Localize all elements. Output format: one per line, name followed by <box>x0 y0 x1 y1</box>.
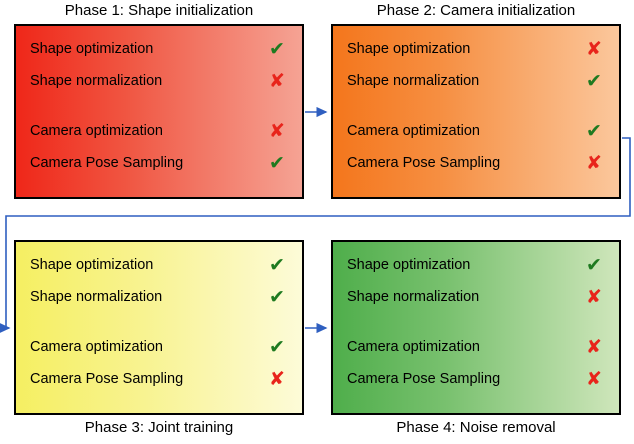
row-label: Camera optimization <box>30 120 163 142</box>
row-label: Shape normalization <box>30 286 162 308</box>
row-label: Shape optimization <box>30 254 153 276</box>
row-label: Shape optimization <box>347 254 470 276</box>
phase-panel-3: Shape optimization ✔ Shape normalization… <box>14 240 304 415</box>
check-icon: ✔ <box>579 254 609 276</box>
phase1-row-shape-normalization: Shape normalization ✘ <box>30 70 292 92</box>
check-icon: ✔ <box>262 336 292 358</box>
phase3-row-camera-optimization: Camera optimization ✔ <box>30 336 292 358</box>
phase-title-2: Phase 2: Camera initialization <box>331 2 621 19</box>
phase3-row-camera-pose-sampling: Camera Pose Sampling ✘ <box>30 368 292 390</box>
check-icon: ✔ <box>262 286 292 308</box>
row-label: Camera optimization <box>30 336 163 358</box>
check-icon: ✔ <box>262 254 292 276</box>
phase1-row-shape-optimization: Shape optimization ✔ <box>30 38 292 60</box>
phase4-row-camera-pose-sampling: Camera Pose Sampling ✘ <box>347 368 609 390</box>
phase2-row-camera-pose-sampling: Camera Pose Sampling ✘ <box>347 152 609 174</box>
check-icon: ✔ <box>579 70 609 92</box>
phase4-row-camera-optimization: Camera optimization ✘ <box>347 336 609 358</box>
check-icon: ✔ <box>262 38 292 60</box>
phase2-row-camera-optimization: Camera optimization ✔ <box>347 120 609 142</box>
phase4-row-shape-normalization: Shape normalization ✘ <box>347 286 609 308</box>
row-label: Shape normalization <box>30 70 162 92</box>
cross-icon: ✘ <box>579 336 609 358</box>
row-label: Shape optimization <box>347 38 470 60</box>
cross-icon: ✘ <box>579 286 609 308</box>
phase-title-3: Phase 3: Joint training <box>14 419 304 436</box>
row-label: Camera Pose Sampling <box>30 152 183 174</box>
cross-icon: ✘ <box>579 152 609 174</box>
row-label: Camera Pose Sampling <box>347 368 500 390</box>
cross-icon: ✘ <box>262 368 292 390</box>
diagram-canvas: Phase 1: Shape initialization Phase 2: C… <box>0 0 634 444</box>
phase-title-4: Phase 4: Noise removal <box>331 419 621 436</box>
phase4-row-shape-optimization: Shape optimization ✔ <box>347 254 609 276</box>
phase1-row-camera-optimization: Camera optimization ✘ <box>30 120 292 142</box>
row-label: Camera optimization <box>347 336 480 358</box>
cross-icon: ✘ <box>579 368 609 390</box>
phase3-row-shape-normalization: Shape normalization ✔ <box>30 286 292 308</box>
row-label: Camera Pose Sampling <box>347 152 500 174</box>
cross-icon: ✘ <box>262 70 292 92</box>
row-label: Shape normalization <box>347 286 479 308</box>
check-icon: ✔ <box>262 152 292 174</box>
phase3-row-shape-optimization: Shape optimization ✔ <box>30 254 292 276</box>
phase-panel-2: Shape optimization ✘ Shape normalization… <box>331 24 621 199</box>
check-icon: ✔ <box>579 120 609 142</box>
phase-panel-4: Shape optimization ✔ Shape normalization… <box>331 240 621 415</box>
row-label: Camera optimization <box>347 120 480 142</box>
row-label: Shape optimization <box>30 38 153 60</box>
phase1-row-camera-pose-sampling: Camera Pose Sampling ✔ <box>30 152 292 174</box>
cross-icon: ✘ <box>262 120 292 142</box>
phase-title-1: Phase 1: Shape initialization <box>14 2 304 19</box>
phase2-row-shape-normalization: Shape normalization ✔ <box>347 70 609 92</box>
cross-icon: ✘ <box>579 38 609 60</box>
phase-panel-1: Shape optimization ✔ Shape normalization… <box>14 24 304 199</box>
phase2-row-shape-optimization: Shape optimization ✘ <box>347 38 609 60</box>
row-label: Camera Pose Sampling <box>30 368 183 390</box>
row-label: Shape normalization <box>347 70 479 92</box>
